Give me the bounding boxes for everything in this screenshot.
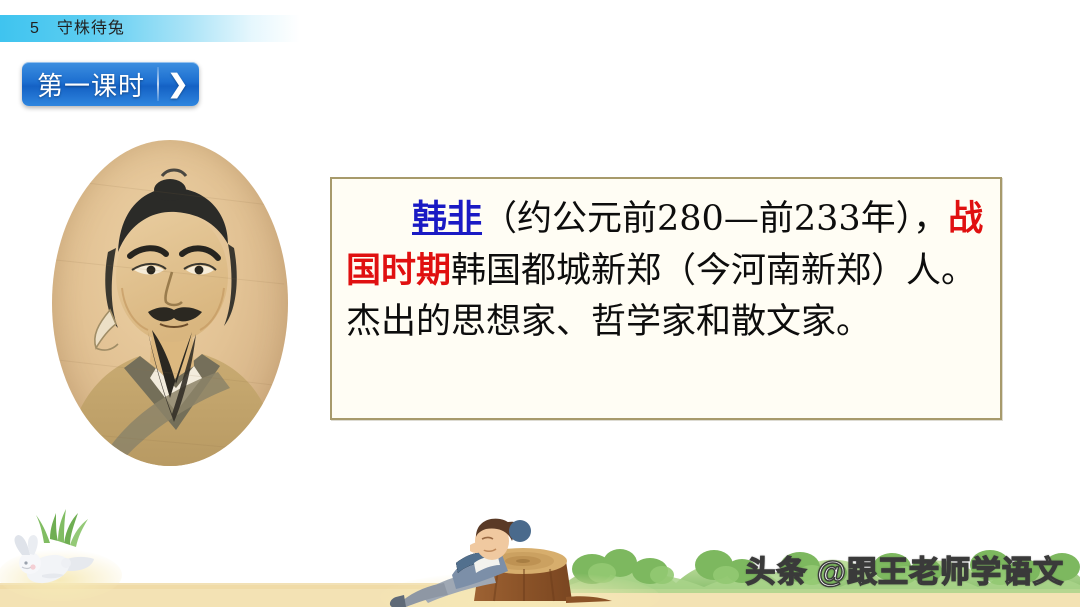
biography-segment-dates: （约公元前280—前233年）， <box>482 199 948 239</box>
lesson-period-button[interactable]: 第一课时 ❯ <box>22 62 199 106</box>
grass-tuft <box>36 509 88 547</box>
portrait-artwork <box>52 140 288 466</box>
watermark-text: 头条 @跟王老师学语文 <box>745 547 1064 591</box>
han-fei-portrait <box>52 140 288 466</box>
presentation-slide: 5 守株待兔 第一课时 ❯ <box>0 0 1080 607</box>
person-name-highlight: 韩非 <box>412 198 482 239</box>
lesson-period-label: 第一课时 <box>24 62 157 106</box>
page-title: 5 守株待兔 <box>30 16 125 41</box>
chevron-right-icon[interactable]: ❯ <box>159 62 197 106</box>
biography-box: 韩非（约公元前280—前233年），战国时期韩国都城新郑（今河南新郑）人。杰出的… <box>330 177 1002 420</box>
biography-text: 韩非（约公元前280—前233年），战国时期韩国都城新郑（今河南新郑）人。杰出的… <box>332 179 1000 348</box>
